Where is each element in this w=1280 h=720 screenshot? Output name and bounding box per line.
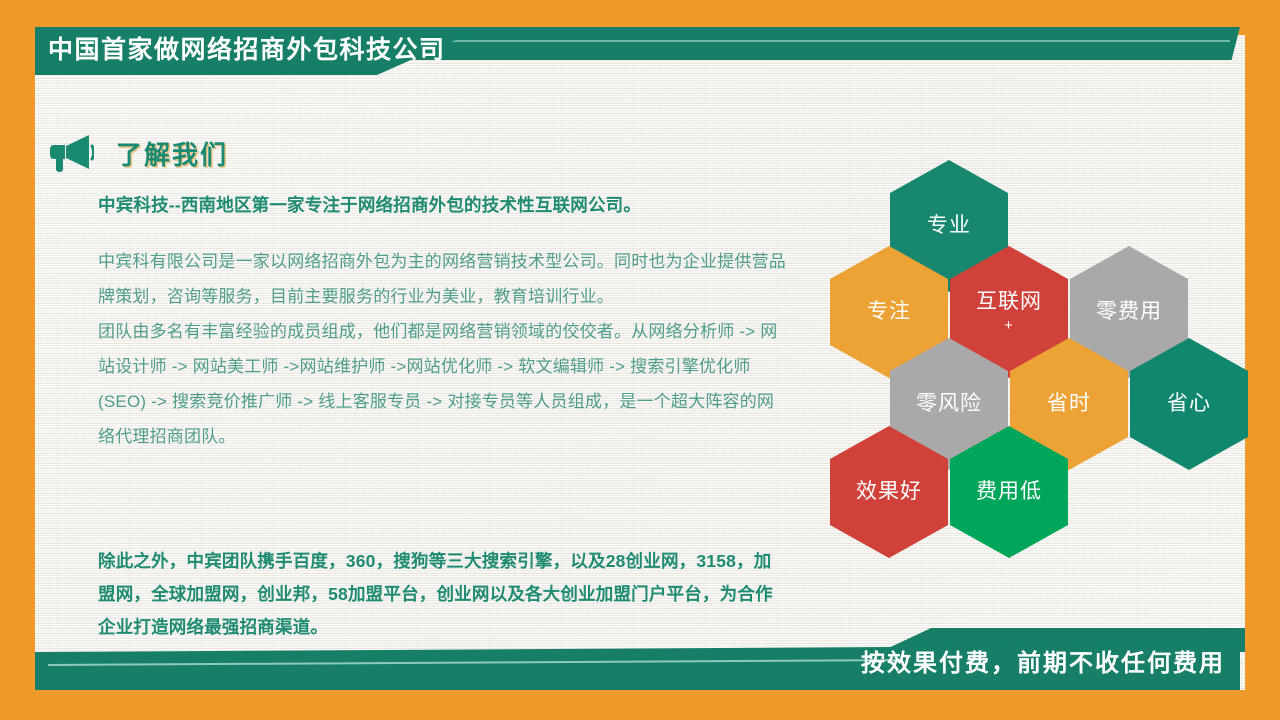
body-copy: 中宾科技--西南地区第一家专注于网络招商外包的技术性互联网公司。 中宾科有限公司…: [98, 192, 788, 454]
hexagon-label: 互联网: [976, 289, 1042, 315]
page-title: 中国首家做网络招商外包科技公司: [48, 35, 446, 65]
hexagon-label: 费用低: [976, 479, 1042, 505]
slide: 中国首家做网络招商外包科技公司 了解我们 中宾科技--西南地区第一家专注于网络招…: [0, 0, 1280, 720]
megaphone-icon: [48, 133, 94, 173]
hexagon-label: 省时: [1047, 391, 1091, 417]
section-title: 了解我们: [116, 135, 228, 172]
lead-paragraph: 中宾科技--西南地区第一家专注于网络招商外包的技术性互联网公司。: [98, 192, 788, 218]
hexagon-label: 零费用: [1096, 299, 1162, 325]
hexagon-cluster: 专业专注互联网+零费用零风险省时省心效果好费用低: [830, 160, 1230, 540]
closing-paragraph: 除此之外，中宾团队携手百度，360，搜狗等三大搜索引擎，以及28创业网，3158…: [98, 545, 788, 644]
hexagon-sublabel: +: [1004, 317, 1014, 335]
hexagon-label: 效果好: [856, 479, 922, 505]
paragraph-1: 中宾科有限公司是一家以网络招商外包为主的网络营销技术型公司。同时也为企业提供营品…: [98, 244, 788, 314]
hexagon-label: 专注: [867, 299, 911, 325]
hexagon-label: 专业: [927, 213, 971, 239]
footer-tagline: 按效果付费，前期不收任何费用: [861, 648, 1225, 680]
header-rule: [335, 40, 1230, 42]
section-heading: 了解我们: [48, 133, 228, 173]
hexagon-label: 零风险: [916, 391, 982, 417]
hexagon-label: 省心: [1167, 391, 1211, 417]
paragraph-2: 团队由多名有丰富经验的成员组成，他们都是网络营销领域的佼佼者。从网络分析师 ->…: [98, 314, 788, 454]
